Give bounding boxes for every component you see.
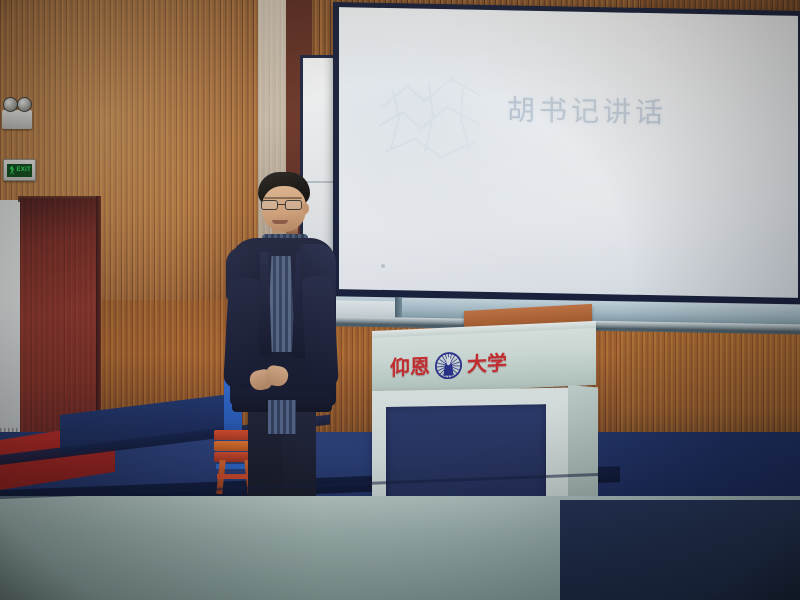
eyeglass-lens-right	[285, 200, 302, 210]
podium-text-right: 大学	[467, 353, 507, 375]
emergency-light-body	[2, 110, 32, 129]
exit-sign-panel: EXIT	[7, 164, 32, 177]
running-man-icon	[9, 166, 14, 175]
foreground-floor-shading	[0, 496, 800, 600]
projection-screen: 胡书记讲话	[333, 2, 800, 307]
speaker-mouth	[272, 220, 288, 224]
emergency-lamp-left	[3, 97, 18, 112]
lecture-hall-photo: EXIT	[0, 0, 800, 600]
projection-screen-surface: 胡书记讲话	[339, 7, 798, 298]
screen-speck	[381, 264, 385, 268]
exit-sign-label: EXIT	[16, 167, 31, 173]
podium-text-left: 仰恩	[390, 356, 430, 378]
eyeglass-bridge	[278, 204, 285, 205]
speaker-arm-right	[301, 275, 339, 389]
slide-watermark-icon	[363, 56, 503, 179]
speaker-shirt-tail	[268, 400, 296, 434]
university-emblem-icon	[435, 351, 462, 379]
exit-sign: EXIT	[3, 159, 36, 181]
emergency-lamp-right	[17, 97, 32, 112]
emergency-light	[2, 96, 32, 129]
doorway-opening	[0, 200, 22, 450]
speaker-brow	[264, 197, 302, 199]
slide-title: 胡书记讲话	[507, 88, 667, 131]
eyeglasses-icon	[260, 200, 306, 211]
eyeglass-lens-left	[261, 200, 278, 210]
